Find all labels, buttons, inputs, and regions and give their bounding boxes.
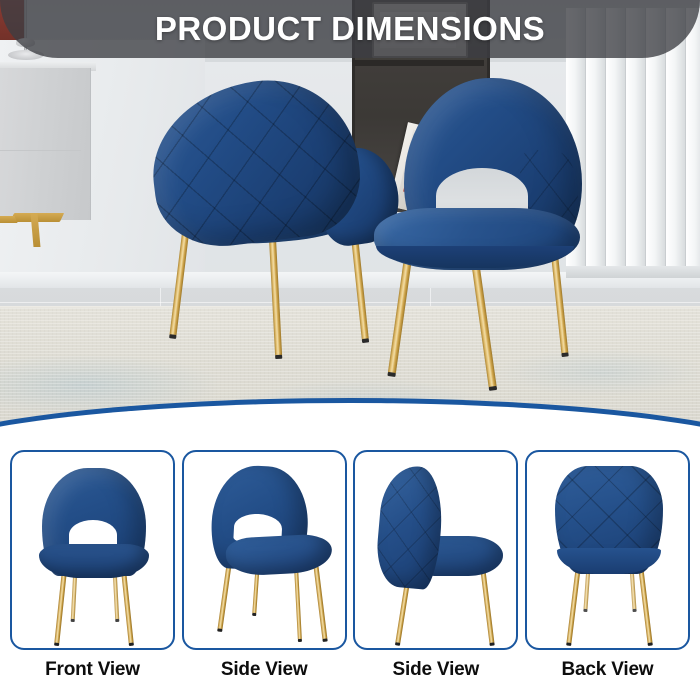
product-dimensions-image: Front View Side View bbox=[0, 0, 700, 700]
view-card-frame[interactable] bbox=[10, 450, 175, 650]
chair-leg bbox=[638, 568, 652, 644]
sideboard-leg bbox=[0, 216, 18, 223]
view-card-side-profile[interactable]: Side View bbox=[353, 450, 518, 700]
chair-leg bbox=[113, 572, 120, 620]
view-card-side-angled[interactable]: Side View bbox=[182, 450, 347, 700]
chair-leg bbox=[71, 572, 78, 620]
view-card-front[interactable]: Front View bbox=[10, 450, 175, 700]
chair-seat bbox=[39, 544, 149, 578]
page-title: PRODUCT DIMENSIONS bbox=[0, 0, 700, 58]
chair-leg bbox=[121, 572, 133, 644]
chair-back-illustration bbox=[527, 452, 688, 648]
chair-side-profile-illustration bbox=[355, 452, 516, 648]
chair-leg bbox=[217, 564, 231, 630]
chair-leg bbox=[313, 566, 327, 640]
view-card-label: Front View bbox=[45, 659, 140, 681]
view-card-frame[interactable] bbox=[525, 450, 690, 650]
view-card-label: Side View bbox=[393, 659, 480, 681]
shelf-divider bbox=[352, 60, 484, 66]
chair-leg bbox=[481, 570, 495, 644]
view-card-frame[interactable] bbox=[182, 450, 347, 650]
chair-front-illustration bbox=[12, 452, 173, 648]
view-card-label: Back View bbox=[562, 659, 654, 681]
blinds-bottom-rail bbox=[566, 266, 700, 278]
chair-leg bbox=[294, 568, 302, 640]
sideboard bbox=[0, 68, 91, 220]
view-card-back[interactable]: Back View bbox=[525, 450, 690, 700]
chair-leg bbox=[54, 572, 66, 644]
room-scene-photo bbox=[0, 0, 700, 430]
view-card-label: Side View bbox=[221, 659, 308, 681]
sideboard-drawer-line bbox=[0, 150, 81, 151]
view-card-frame[interactable] bbox=[353, 450, 518, 650]
view-cards-row: Front View Side View bbox=[0, 450, 700, 700]
chair-side-angled-illustration bbox=[184, 452, 345, 648]
chair-leg bbox=[566, 568, 580, 644]
